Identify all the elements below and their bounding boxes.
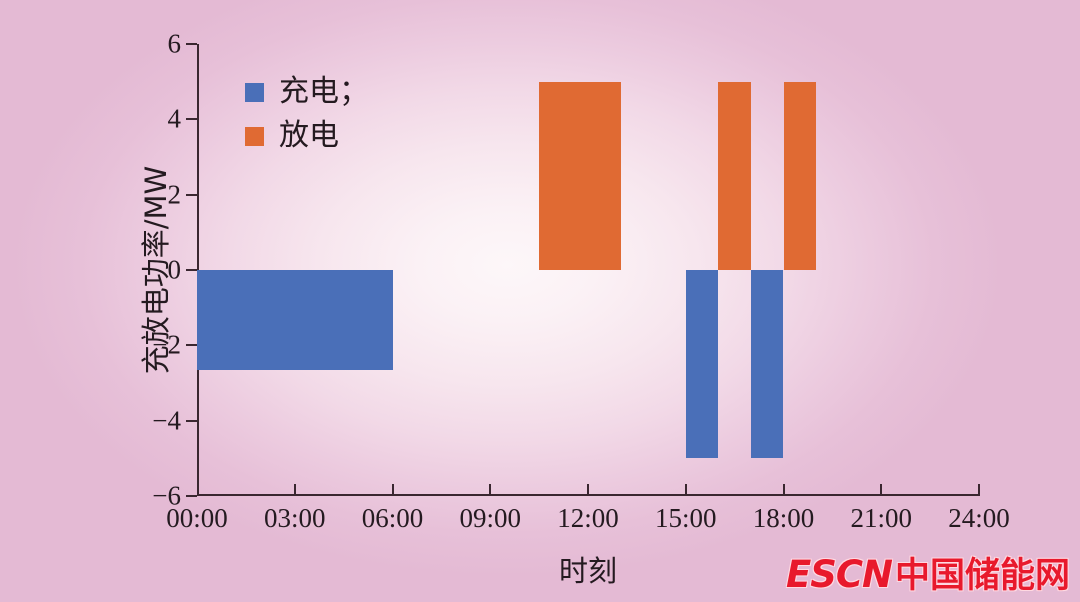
x-tick [685,484,687,496]
y-tick-label: 6 [168,31,182,58]
x-tick [783,484,785,496]
x-tick [392,484,394,496]
x-tick-label: 03:00 [264,505,326,532]
y-tick [186,118,197,120]
plot-area: 6420−2−4−6 00:0003:0006:0009:0012:0015:0… [197,44,979,496]
watermark: ESCN 中国储能网 [786,556,1070,594]
legend-swatch-discharge [245,127,264,146]
bar-充电 [751,270,784,458]
y-tick [186,344,197,346]
x-tick-label: 00:00 [166,505,228,532]
x-tick [294,484,296,496]
bar-放电 [784,82,817,270]
x-tick-label: 06:00 [362,505,424,532]
chart-figure: 6420−2−4−6 00:0003:0006:0009:0012:0015:0… [0,0,1080,602]
legend-label: 充电； [279,77,369,107]
y-tick [186,269,197,271]
y-tick [186,43,197,45]
y-tick [186,495,197,497]
legend-label: 放电 [279,121,339,151]
legend-item: 放电 [245,114,369,158]
y-tick-label: −4 [152,407,181,434]
x-tick-label: 21:00 [850,505,912,532]
bar-充电 [197,270,393,370]
legend-swatch-charge [245,83,264,102]
watermark-chinese: 中国储能网 [895,559,1070,594]
y-axis-title: 充放电功率/MW [133,166,175,374]
x-tick-label: 18:00 [753,505,815,532]
bar-充电 [686,270,719,458]
x-tick [587,484,589,496]
chart-legend: 充电；放电 [245,70,369,158]
legend-item: 充电； [245,70,369,114]
bar-放电 [539,82,620,270]
x-tick [978,484,980,496]
x-tick [880,484,882,496]
x-tick-label: 15:00 [655,505,717,532]
watermark-english: ESCN [786,556,892,593]
y-tick-label: 4 [168,106,182,133]
x-tick-label: 09:00 [459,505,521,532]
x-tick [489,484,491,496]
bar-放电 [718,82,751,270]
y-tick [186,420,197,422]
x-tick-label: 12:00 [557,505,619,532]
x-tick-label: 24:00 [948,505,1010,532]
y-tick [186,194,197,196]
